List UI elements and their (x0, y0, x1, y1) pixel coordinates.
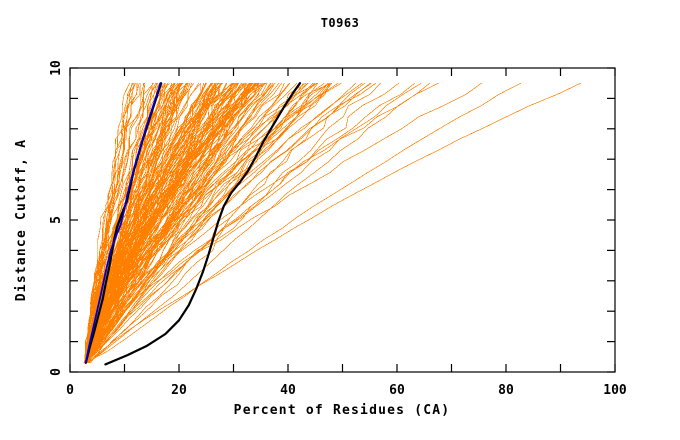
x-tick-label: 20 (171, 383, 187, 398)
plot-canvas: T0963 020406080100 0510 Percent of Resid… (0, 0, 680, 440)
x-tick-label: 60 (389, 383, 405, 398)
chart-figure: T0963 020406080100 0510 Percent of Resid… (0, 0, 680, 440)
y-axis-label: Distance Cutoff, A (14, 139, 29, 301)
x-tick-label: 0 (66, 383, 74, 398)
chart-background (0, 0, 680, 440)
x-tick-label: 40 (280, 383, 296, 398)
x-axis-label: Percent of Residues (CA) (234, 403, 451, 418)
x-tick-label: 100 (603, 383, 627, 398)
y-tick-label: 5 (49, 216, 64, 224)
chart-title: T0963 (321, 16, 360, 30)
y-tick-label: 10 (49, 60, 64, 76)
y-tick-label: 0 (49, 368, 64, 376)
x-tick-label: 80 (498, 383, 514, 398)
